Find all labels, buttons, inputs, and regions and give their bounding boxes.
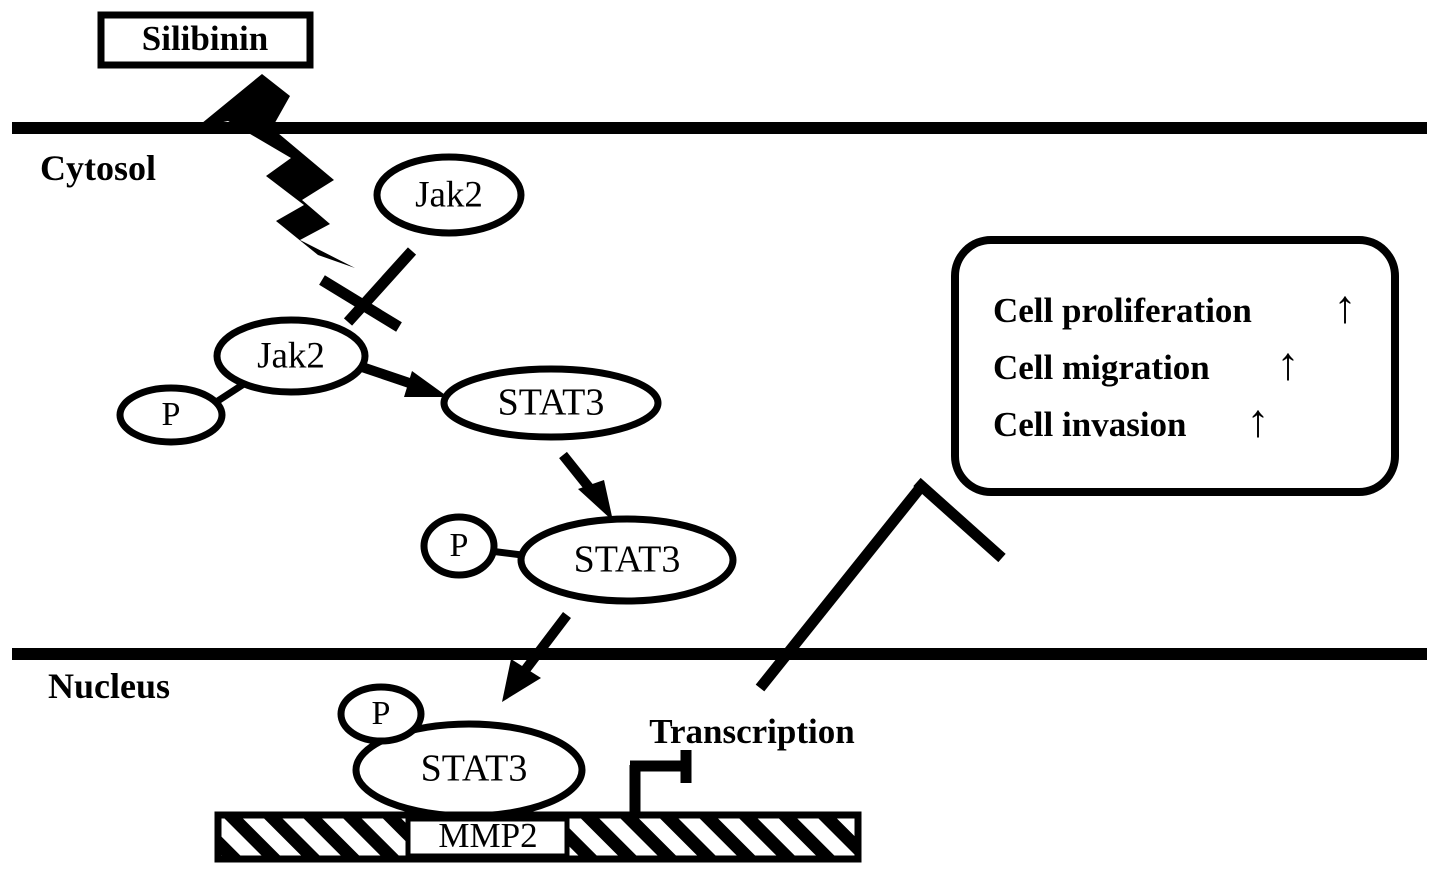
nuclear-membrane-line: [12, 648, 1427, 660]
node-jak2-inactive-label: Jak2: [415, 174, 483, 215]
node-stat3-phosphate-nuclear-label: P: [372, 695, 391, 732]
silibinin-lightning-bolt-icon: [196, 74, 355, 268]
transcription-label: Transcription: [649, 712, 854, 751]
pathway-diagram-svg: Silibinin Jak2 Jak2 P STAT3 STAT3 P: [0, 0, 1441, 875]
outcome-label-1: Cell migration: [993, 348, 1210, 387]
outcome-arrow-1: ↑: [1277, 338, 1300, 389]
outcome-arrow-0: ↑: [1334, 281, 1357, 332]
node-stat3-cytosolic-label: STAT3: [498, 382, 605, 424]
node-stat3-phospho-cytosolic-label: STAT3: [574, 539, 681, 581]
node-stat3-nuclear-label: STAT3: [421, 748, 528, 790]
arrow-jak2-to-stat3-head: [404, 371, 448, 397]
node-jak2-active-label: Jak2: [257, 335, 325, 376]
plasma-membrane-line: [12, 122, 1427, 134]
nucleus-label: Nucleus: [48, 666, 170, 706]
gene-mmp2-label: MMP2: [438, 816, 537, 855]
node-stat3-phosphate-cytosolic-label: P: [450, 527, 469, 564]
node-jak2-phosphate-label: P: [162, 396, 181, 433]
silibinin-label: Silibinin: [142, 19, 268, 58]
arrow-stat3-translocation-shaft: [523, 615, 567, 673]
arrow-stat3-translocation-head: [502, 659, 541, 702]
outcome-arrow-2: ↑: [1247, 395, 1270, 446]
outcome-label-0: Cell proliferation: [993, 291, 1252, 330]
outcome-label-2: Cell invasion: [993, 405, 1187, 444]
pathway-diagram-canvas: Silibinin Jak2 Jak2 P STAT3 STAT3 P: [0, 0, 1441, 875]
cytosol-label: Cytosol: [40, 148, 156, 188]
